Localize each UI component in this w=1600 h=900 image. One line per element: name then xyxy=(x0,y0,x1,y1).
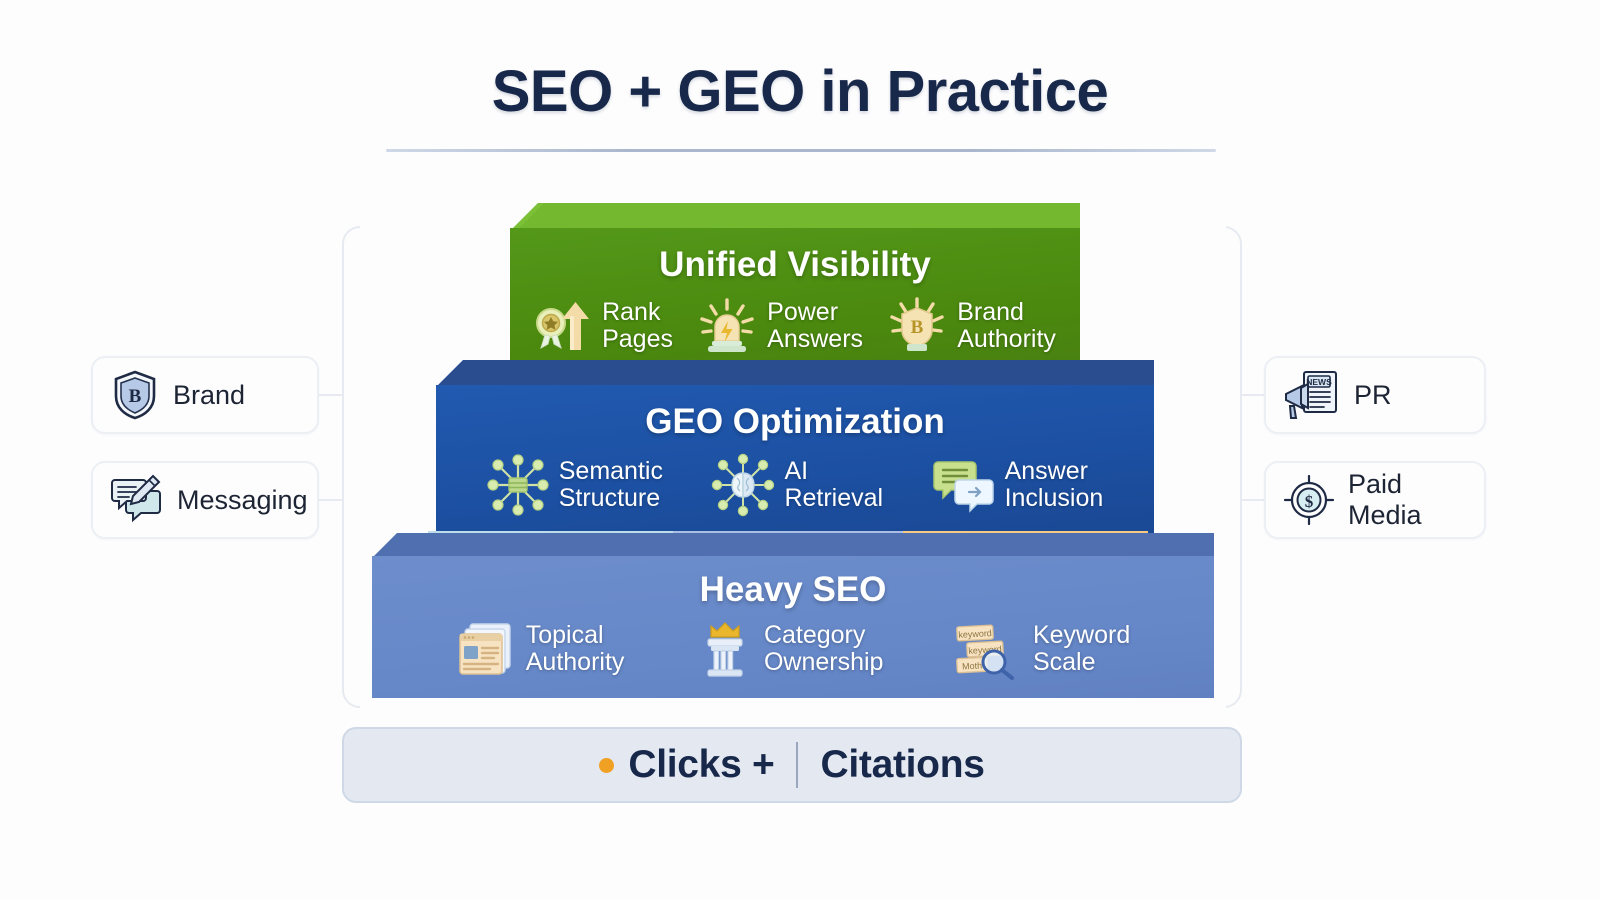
tier-item-label: AI Retrieval xyxy=(784,458,883,512)
tier-item-brand-authority[interactable]: B Brand Authority xyxy=(887,297,1056,355)
connector-left-brand xyxy=(318,394,344,396)
keyword-tags-search-icon: keyword keyword Moth xyxy=(955,620,1023,678)
tier-front-face: Heavy SEO xyxy=(372,556,1214,698)
tier-top-face xyxy=(436,360,1154,387)
tier-top-face xyxy=(510,203,1080,231)
node-network-icon xyxy=(487,454,549,516)
connector-right-paid-media xyxy=(1240,499,1266,501)
rosette-arrow-icon xyxy=(534,298,592,354)
tier-item-semantic-structure[interactable]: Semantic Structure xyxy=(487,454,663,516)
tier-heading: Heavy SEO xyxy=(372,556,1214,610)
beacon-lamp-icon xyxy=(697,297,757,355)
target-dollar-icon: $ xyxy=(1284,475,1334,525)
side-card-label: Messaging xyxy=(177,485,308,516)
tier-unified-visibility[interactable]: Unified Visibility xyxy=(510,203,1080,385)
side-card-label: Paid Media xyxy=(1348,469,1466,531)
outcome-citations-label: Citations xyxy=(820,743,984,787)
tier-item-label: Topical Authority xyxy=(526,622,625,676)
shield-b-icon: B xyxy=(887,297,947,355)
outcome-clicks-label: Clicks + xyxy=(628,743,774,787)
connector-left-messaging xyxy=(318,499,344,501)
documents-stack-icon xyxy=(456,620,516,678)
tier-item-list: Topical Authority xyxy=(372,620,1214,678)
tier-item-label: Category Ownership xyxy=(764,622,884,676)
tier-front-face: GEO Optimization xyxy=(436,385,1154,540)
money-symbol: $ xyxy=(1305,492,1314,511)
shield-b-badge-icon: B xyxy=(111,369,159,421)
side-card-brand[interactable]: B Brand xyxy=(91,356,319,434)
connector-right-pr xyxy=(1240,394,1266,396)
brand-letter: B xyxy=(911,317,924,338)
bullet-dot-icon xyxy=(599,758,614,773)
keyword-tag-text-1: keyword xyxy=(958,628,992,640)
tier-item-topical-authority[interactable]: Topical Authority xyxy=(456,620,625,678)
megaphone-news-icon: NEWS xyxy=(1284,369,1340,421)
keyword-tag-text-3: Moth xyxy=(962,660,983,671)
tier-item-label: Keyword Scale xyxy=(1033,622,1130,676)
tier-heading: Unified Visibility xyxy=(510,228,1080,285)
tier-item-label: Semantic Structure xyxy=(559,458,663,512)
tier-top-face xyxy=(372,533,1214,558)
tier-heading: GEO Optimization xyxy=(436,385,1154,442)
news-label: NEWS xyxy=(1306,377,1332,387)
tier-item-list: Rank Pages xyxy=(510,297,1080,355)
chat-answer-icon xyxy=(933,456,995,514)
diagram-canvas: SEO + GEO in Practice Unified Visibility xyxy=(0,0,1600,900)
tier-geo-optimization[interactable]: GEO Optimization xyxy=(436,360,1154,540)
tier-item-answer-inclusion[interactable]: Answer Inclusion xyxy=(933,456,1104,514)
side-card-label: PR xyxy=(1354,380,1392,411)
side-card-label: Brand xyxy=(173,380,245,411)
tier-item-category-ownership[interactable]: Category Ownership xyxy=(696,620,884,678)
outcome-bar[interactable]: Clicks + Citations xyxy=(342,727,1242,803)
tier-item-rank-pages[interactable]: Rank Pages xyxy=(534,298,673,354)
tier-item-list: Semantic Structure xyxy=(436,454,1154,516)
crown-pillar-icon xyxy=(696,620,754,678)
tier-item-power-answers[interactable]: Power Answers xyxy=(697,297,863,355)
svg-text:B: B xyxy=(129,386,142,407)
side-card-messaging[interactable]: Messaging xyxy=(91,461,319,539)
brain-network-icon xyxy=(712,454,774,516)
tier-item-label: Answer Inclusion xyxy=(1005,458,1104,512)
tier-item-label: Brand Authority xyxy=(957,299,1056,353)
tier-item-keyword-scale[interactable]: keyword keyword Moth xyxy=(955,620,1130,678)
tier-item-label: Rank Pages xyxy=(602,299,673,353)
side-card-paid-media[interactable]: $ Paid Media xyxy=(1264,461,1486,539)
tier-item-ai-retrieval[interactable]: AI Retrieval xyxy=(712,454,883,516)
outcome-divider xyxy=(796,742,798,788)
chat-pencil-icon xyxy=(111,475,163,525)
tier-heavy-seo[interactable]: Heavy SEO xyxy=(372,533,1214,698)
tier-item-label: Power Answers xyxy=(767,299,863,353)
side-card-pr[interactable]: NEWS PR xyxy=(1264,356,1486,434)
